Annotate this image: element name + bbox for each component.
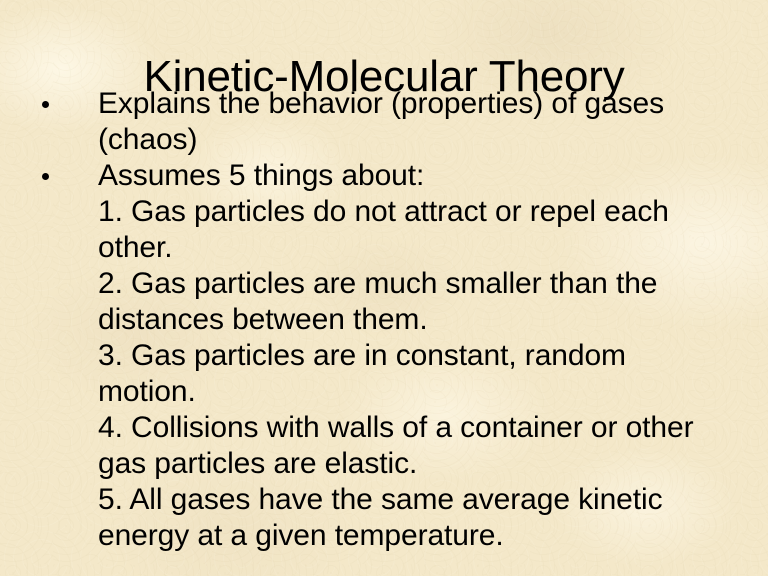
list-item: 4. Collisions with walls of a container … [0, 410, 768, 482]
slide-content: Kinetic-Molecular Theory Explains the be… [0, 0, 768, 576]
list-item: 3. Gas particles are in constant, random… [0, 338, 768, 410]
bullet-dot-icon [42, 101, 49, 108]
list-item: 1. Gas particles do not attract or repel… [0, 194, 768, 266]
list-item-label: Assumes 5 things about: [98, 159, 424, 192]
list-item: Assumes 5 things about: [0, 158, 768, 194]
list-item-label: Explains the behavior (properties) of ga… [98, 87, 664, 156]
presentation-slide: Kinetic-Molecular Theory Explains the be… [0, 0, 768, 576]
list-item: Explains the behavior (properties) of ga… [0, 86, 768, 158]
list-item: 5. All gases have the same average kinet… [0, 482, 768, 554]
bullet-dot-icon [42, 173, 49, 180]
list-item: 2. Gas particles are much smaller than t… [0, 266, 768, 338]
slide-body: Explains the behavior (properties) of ga… [0, 86, 768, 554]
